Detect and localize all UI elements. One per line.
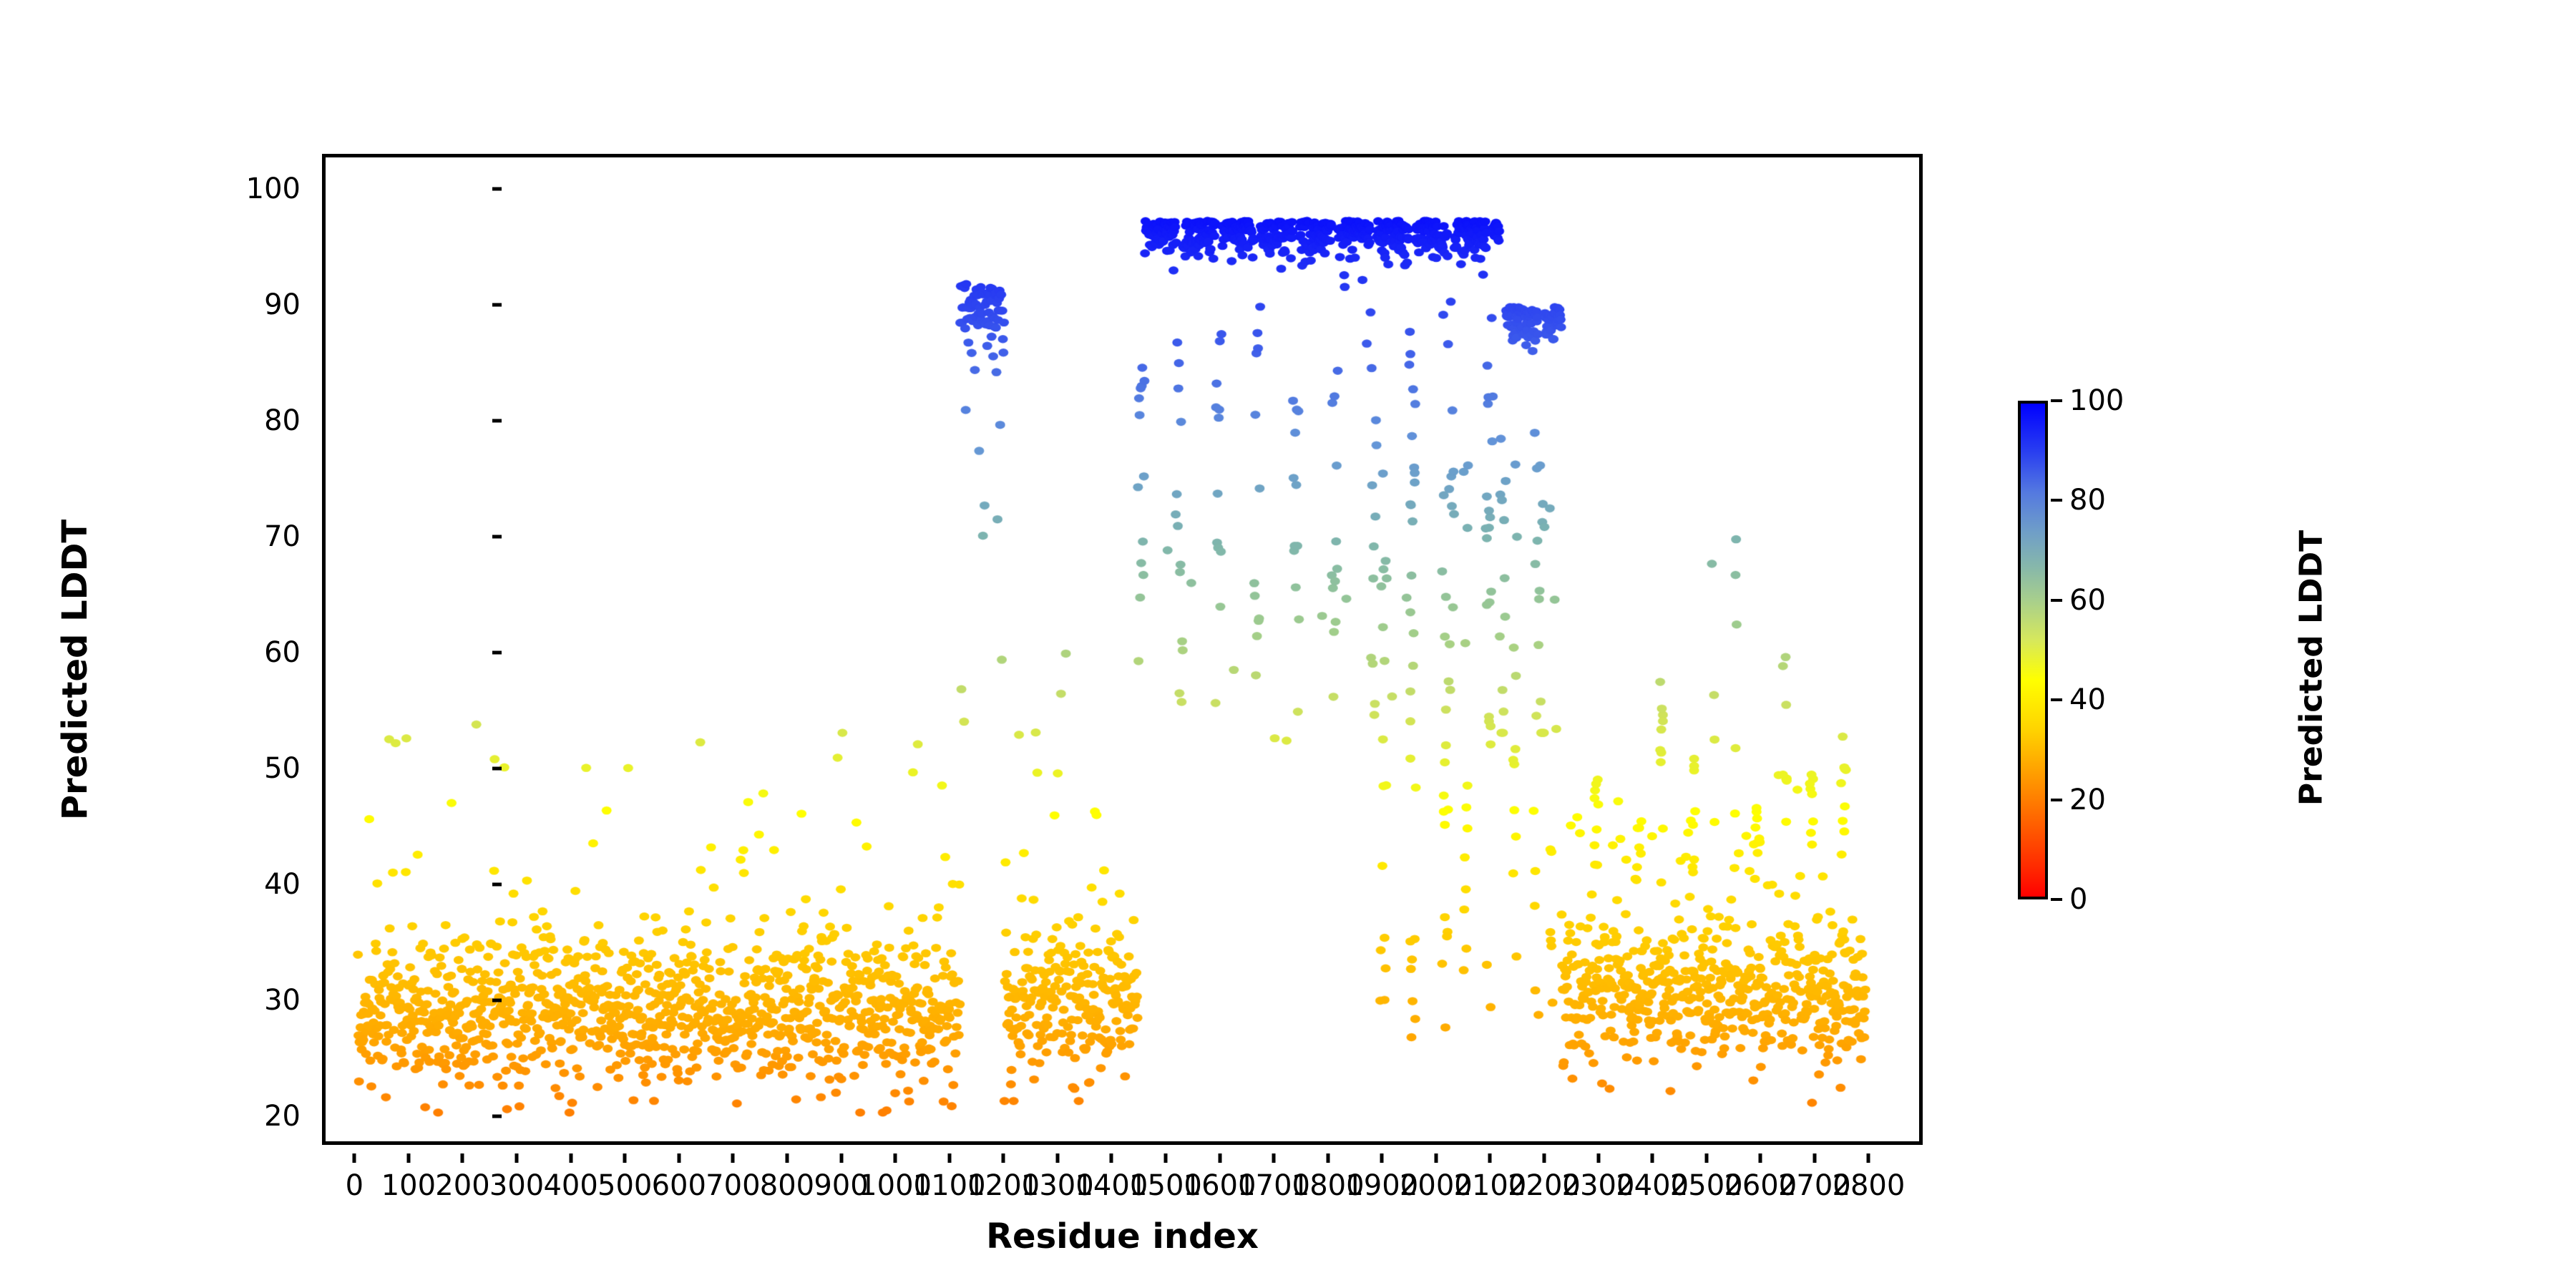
x-tick-mark	[1867, 1153, 1870, 1163]
y-tick-label: 70	[264, 520, 301, 553]
x-tick-mark	[1218, 1153, 1221, 1163]
x-tick-label: 500	[597, 1169, 652, 1202]
x-tick-mark	[947, 1153, 951, 1163]
colorbar-tick-mark	[2051, 698, 2062, 701]
colorbar-tick-label: 60	[2069, 584, 2106, 617]
x-tick-mark	[1002, 1153, 1005, 1163]
colorbar-tick-label: 80	[2069, 484, 2106, 517]
x-tick-mark	[731, 1153, 735, 1163]
x-tick-mark	[1651, 1153, 1654, 1163]
x-tick-mark	[1272, 1153, 1276, 1163]
x-tick-label: 2800	[1833, 1169, 1906, 1202]
y-tick-label: 90	[264, 288, 301, 321]
x-tick-label: 700	[706, 1169, 760, 1202]
colorbar-group: Predicted LDDT 020406080100	[2018, 401, 2275, 902]
x-tick-label: 0	[346, 1169, 364, 1202]
x-tick-mark	[1596, 1153, 1600, 1163]
y-tick-label: 80	[264, 404, 301, 437]
x-tick-mark	[1813, 1153, 1816, 1163]
x-tick-mark	[1434, 1153, 1438, 1163]
x-tick-mark	[894, 1153, 897, 1163]
x-tick-mark	[353, 1153, 356, 1163]
x-tick-mark	[1163, 1153, 1167, 1163]
y-tick-mark	[492, 535, 502, 538]
colorbar-tick-mark	[2051, 399, 2062, 402]
x-tick-label: 800	[760, 1169, 814, 1202]
scatter-plot-area[interactable]	[326, 157, 1919, 1141]
x-tick-mark	[461, 1153, 464, 1163]
y-tick-mark	[492, 882, 502, 886]
y-axis-tick-labels: 2030405060708090100	[179, 154, 301, 1145]
x-tick-mark	[1704, 1153, 1708, 1163]
x-tick-mark	[1542, 1153, 1546, 1163]
y-tick-mark	[492, 1114, 502, 1118]
colorbar-tick-label: 0	[2069, 883, 2087, 916]
x-tick-mark	[1110, 1153, 1113, 1163]
y-tick-label: 20	[264, 1100, 301, 1133]
x-tick-label: 400	[543, 1169, 597, 1202]
y-tick-mark	[492, 187, 502, 190]
y-tick-mark	[492, 650, 502, 654]
y-tick-label: 100	[246, 172, 301, 205]
colorbar-tick-mark	[2051, 499, 2062, 502]
x-tick-mark	[515, 1153, 519, 1163]
y-tick-mark	[492, 419, 502, 422]
colorbar-tick-mark	[2051, 898, 2062, 901]
figure-canvas: 2030405060708090100 01002003004005006007…	[0, 0, 2576, 1288]
y-tick-mark	[492, 998, 502, 1002]
y-tick-label: 60	[264, 636, 301, 669]
x-tick-mark	[1055, 1153, 1059, 1163]
y-tick-mark	[492, 303, 502, 306]
colorbar-tick-mark	[2051, 799, 2062, 801]
colorbar-gradient	[2018, 401, 2048, 899]
x-tick-mark	[406, 1153, 410, 1163]
x-tick-mark	[1488, 1153, 1492, 1163]
x-tick-mark	[785, 1153, 789, 1163]
x-axis-title: Residue index	[322, 1216, 1923, 1257]
plot-axes-frame	[322, 154, 1923, 1145]
x-tick-mark	[839, 1153, 843, 1163]
x-tick-label: 300	[489, 1169, 544, 1202]
y-tick-label: 40	[264, 868, 301, 901]
y-tick-label: 30	[264, 984, 301, 1017]
x-tick-mark	[623, 1153, 627, 1163]
y-tick-mark	[492, 766, 502, 770]
x-tick-label: 600	[652, 1169, 706, 1202]
colorbar-tick-mark	[2051, 599, 2062, 602]
colorbar-tick-label: 40	[2069, 683, 2106, 716]
x-tick-mark	[569, 1153, 572, 1163]
y-axis-title: Predicted LDDT	[55, 502, 95, 838]
x-tick-mark	[1759, 1153, 1762, 1163]
x-tick-mark	[1380, 1153, 1384, 1163]
colorbar-tick-label: 100	[2069, 384, 2124, 417]
y-tick-label: 50	[264, 752, 301, 785]
x-tick-label: 100	[381, 1169, 436, 1202]
x-tick-label: 200	[435, 1169, 489, 1202]
x-tick-mark	[677, 1153, 680, 1163]
x-tick-mark	[1326, 1153, 1330, 1163]
colorbar-tick-label: 20	[2069, 784, 2106, 816]
colorbar-title: Predicted LDDT	[2293, 418, 2330, 919]
